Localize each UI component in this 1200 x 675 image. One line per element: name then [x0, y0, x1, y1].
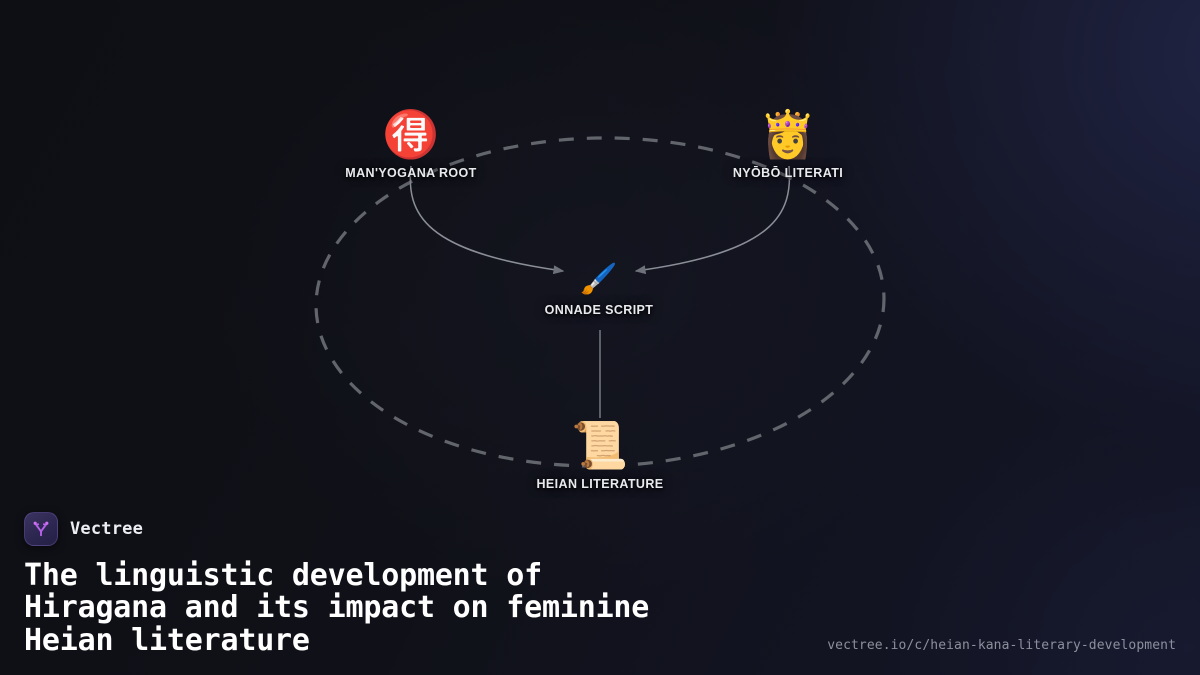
graph-node-label: ONNADE SCRIPT	[545, 303, 654, 317]
brand-name: Vectree	[70, 519, 143, 539]
graph-node-label: NYŌBŌ LITERATI	[733, 166, 843, 180]
paintbrush-emoji: 🖌️	[580, 263, 617, 297]
share-card: 🉐 MAN'YOGANA ROOT 👸 NYŌBŌ LITERATI 🖌️ ON…	[0, 0, 1200, 675]
edge-manyogana-to-onnade	[410, 166, 563, 271]
graph-node-label: MAN'YOGANA ROOT	[345, 166, 476, 180]
graph-node-manyogana-root[interactable]: 🉐 MAN'YOGANA ROOT	[291, 108, 531, 180]
share-url: vectree.io/c/heian-kana-literary-develop…	[827, 638, 1176, 653]
headline: The linguistic development of Hiragana a…	[24, 560, 824, 657]
graph-node-nyobo-literati[interactable]: 👸 NYŌBŌ LITERATI	[668, 108, 908, 180]
scroll-emoji: 📜	[571, 419, 628, 471]
vectree-logo	[24, 512, 58, 546]
brand[interactable]: Vectree	[24, 512, 1176, 546]
princess-emoji: 👸	[759, 108, 816, 160]
edge-nyobo-to-onnade	[636, 166, 789, 271]
japanese-bargain-button-emoji: 🉐	[382, 108, 439, 160]
vectree-mark-icon	[30, 518, 52, 540]
graph-node-onnade-script[interactable]: 🖌️ ONNADE SCRIPT	[479, 263, 719, 317]
footer: Vectree The linguistic development of Hi…	[0, 512, 1200, 675]
graph-node-label: HEIAN LITERATURE	[537, 477, 664, 491]
graph-node-heian-literature[interactable]: 📜 HEIAN LITERATURE	[480, 419, 720, 491]
